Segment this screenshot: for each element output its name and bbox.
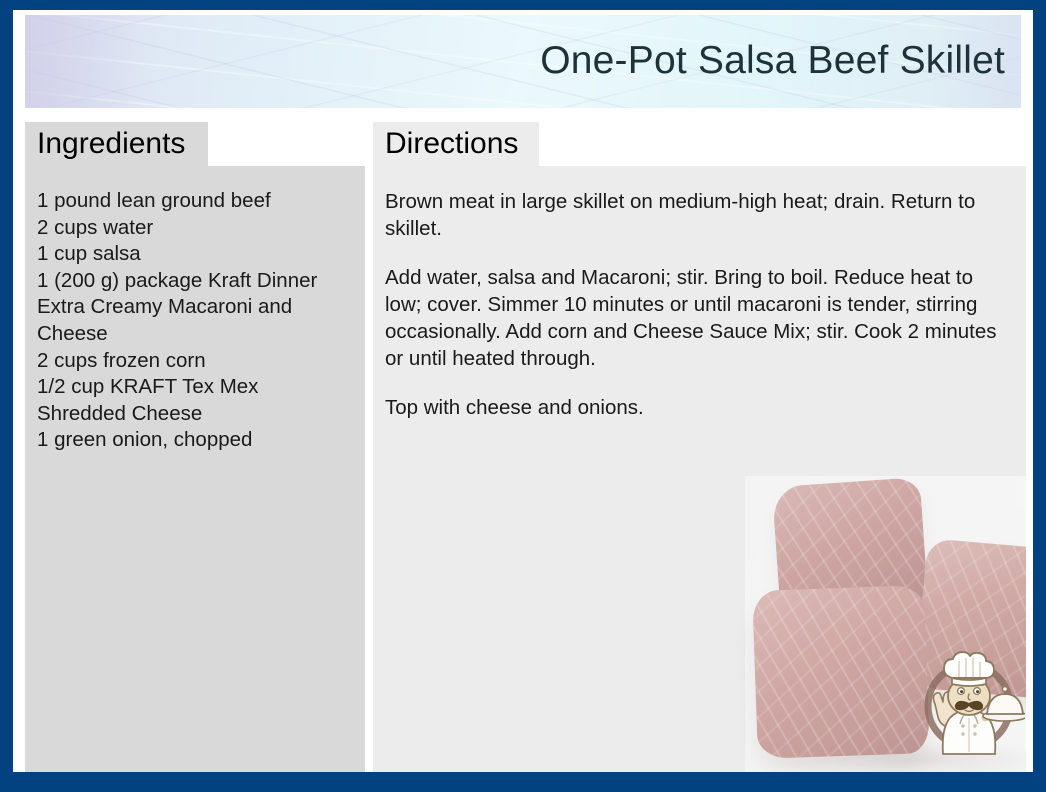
- list-item: 1 cup salsa: [37, 241, 351, 268]
- ingredients-heading: Ingredients: [37, 129, 185, 159]
- list-item: 2 cups water: [37, 215, 351, 242]
- banner-gradient-left: [25, 15, 145, 108]
- directions-heading: Directions: [385, 129, 518, 159]
- directions-steps: Brown meat in large skillet on medium-hi…: [373, 166, 1026, 421]
- list-item: 1 (200 g) package Kraft Dinner Extra Cre…: [37, 268, 351, 348]
- ingredients-list: 1 pound lean ground beef 2 cups water 1 …: [25, 166, 365, 454]
- list-item: 1 pound lean ground beef: [37, 188, 351, 215]
- recipe-card: One-Pot Salsa Beef Skillet Ingredients 1…: [13, 10, 1033, 772]
- content-columns: Ingredients 1 pound lean ground beef 2 c…: [13, 122, 1033, 772]
- recipe-slide: One-Pot Salsa Beef Skillet Ingredients 1…: [0, 0, 1046, 792]
- list-item: 1/2 cup KRAFT Tex Mex Shredded Cheese: [37, 374, 351, 427]
- direction-step: Add water, salsa and Macaroni; stir. Bri…: [385, 264, 1012, 372]
- chef-logo-icon: [913, 646, 1025, 758]
- directions-tab: Directions: [373, 122, 539, 166]
- ingredients-tab: Ingredients: [25, 122, 208, 166]
- list-item: 2 cups frozen corn: [37, 348, 351, 375]
- header-banner: One-Pot Salsa Beef Skillet: [25, 15, 1021, 108]
- list-item: 1 green onion, chopped: [37, 427, 351, 454]
- direction-step: Brown meat in large skillet on medium-hi…: [385, 188, 1012, 242]
- ingredients-panel: 1 pound lean ground beef 2 cups water 1 …: [25, 166, 365, 772]
- direction-step: Top with cheese and onions.: [385, 394, 1012, 421]
- page-title: One-Pot Salsa Beef Skillet: [540, 39, 1005, 83]
- beef-cube-front: [752, 585, 930, 759]
